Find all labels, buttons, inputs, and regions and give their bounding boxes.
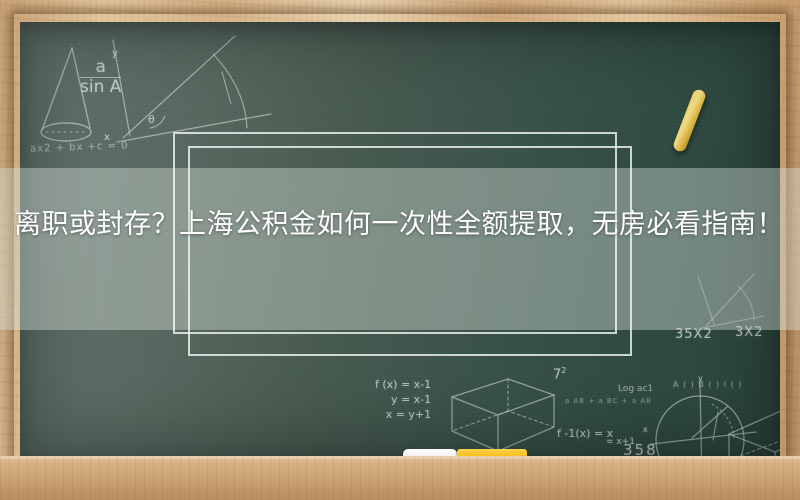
chalkboard-banner: a sin A y x θ ax2 + bx +c = 0 35X2 3X2 (0, 0, 800, 500)
page-title: 离职或封存？上海公积金如何一次性全额提取，无房必看指南！ (14, 203, 786, 247)
wood-shelf (0, 456, 800, 500)
shelf-grain-texture (0, 456, 800, 500)
decorative-rectangle-inner (188, 146, 632, 356)
